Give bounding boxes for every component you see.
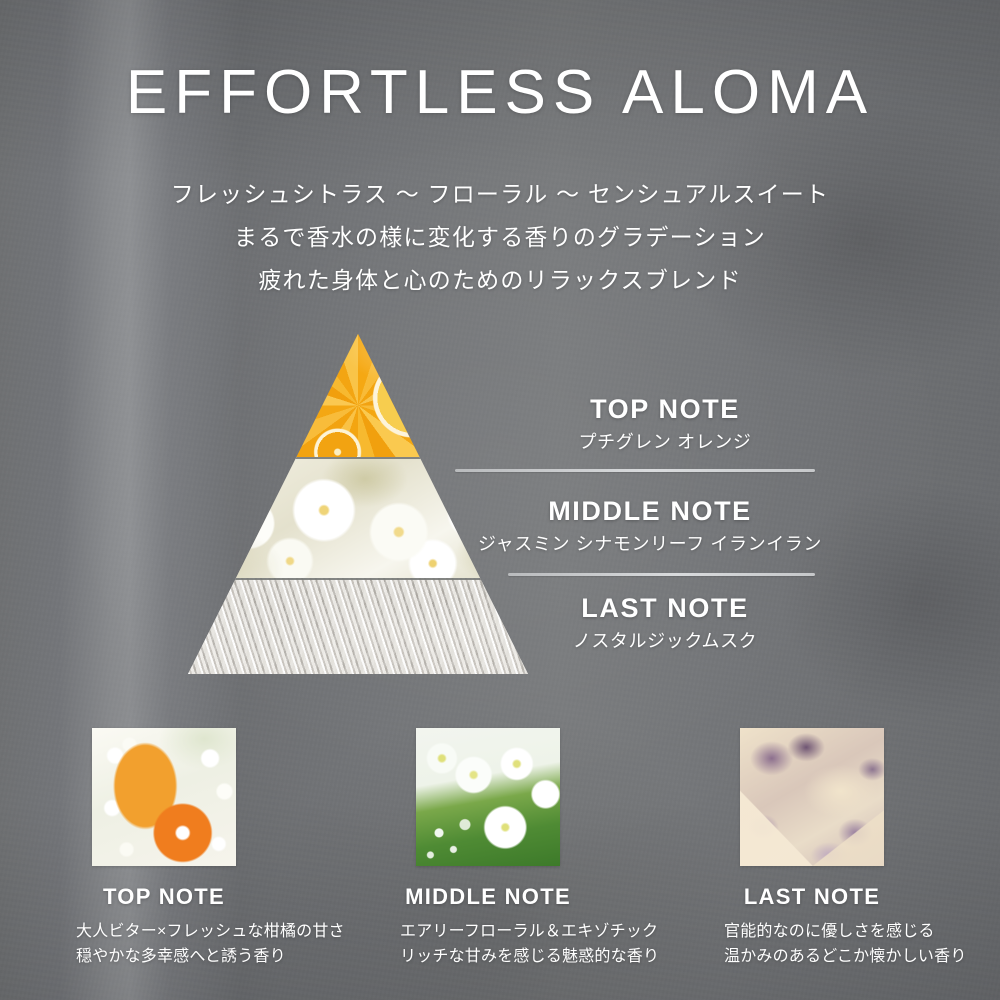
note-card-title-top: TOP NOTE bbox=[76, 884, 252, 910]
note-divider-1 bbox=[455, 469, 815, 472]
pyramid-separator-2 bbox=[188, 578, 528, 580]
subtitle-line-3: 疲れた身体と心のためのリラックスブレンド bbox=[0, 259, 1000, 302]
note-card-last: LAST NOTE 官能的なのに優しさを感じる 温かみのあるどこか懐かしい香り bbox=[724, 728, 900, 969]
note-card-description-last: 官能的なのに優しさを感じる 温かみのあるどこか懐かしい香り bbox=[724, 919, 900, 969]
note-card-description-top-line-1: 大人ビター×フレッシュな柑橘の甘さ bbox=[76, 919, 252, 944]
note-title-top: TOP NOTE bbox=[500, 393, 830, 425]
note-card-photo-top bbox=[92, 728, 236, 866]
note-card-description-middle: エアリーフローラル＆エキゾチック リッチな甘みを感じる魅惑的な香り bbox=[400, 919, 576, 969]
note-card-description-last-line-1: 官能的なのに優しさを感じる bbox=[724, 919, 900, 944]
orange-juice-jar-blossom-image bbox=[92, 728, 236, 866]
note-ingredients-top: プチグレン オレンジ bbox=[500, 431, 830, 454]
poster-root: EFFORTLESS ALOMA フレッシュシトラス 〜 フローラル 〜 センシ… bbox=[0, 0, 1000, 1000]
note-card-description-top-line-2: 穏やかな多幸感へと誘う香り bbox=[76, 944, 252, 969]
pyramid-band-last-note bbox=[188, 578, 528, 674]
note-card-title-last: LAST NOTE bbox=[724, 884, 900, 910]
note-ingredients-last: ノスタルジックムスク bbox=[500, 630, 830, 653]
subtitle-block: フレッシュシトラス 〜 フローラル 〜 センシュアルスイート まるで香水の様に変… bbox=[0, 173, 1000, 302]
note-card-photo-middle bbox=[416, 728, 560, 866]
musk-fur-texture bbox=[188, 578, 528, 674]
note-card-description-top: 大人ビター×フレッシュな柑橘の甘さ 穏やかな多幸感へと誘う香り bbox=[76, 919, 252, 969]
note-card-top: TOP NOTE 大人ビター×フレッシュな柑橘の甘さ 穏やかな多幸感へと誘う香り bbox=[76, 728, 252, 969]
citrus-texture bbox=[188, 334, 528, 457]
note-row-middle: MIDDLE NOTE ジャスミン シナモンリーフ イランイラン bbox=[470, 495, 830, 557]
note-cards: TOP NOTE 大人ビター×フレッシュな柑橘の甘さ 穏やかな多幸感へと誘う香り… bbox=[0, 728, 1000, 978]
note-row-top: TOP NOTE プチグレン オレンジ bbox=[500, 393, 830, 455]
note-card-middle: MIDDLE NOTE エアリーフローラル＆エキゾチック リッチな甘みを感じる魅… bbox=[400, 728, 576, 969]
note-title-middle: MIDDLE NOTE bbox=[470, 495, 830, 527]
pyramid-band-top-note bbox=[188, 334, 528, 457]
note-card-photo-last bbox=[740, 728, 884, 866]
jasmine-on-green-leaf-image bbox=[416, 728, 560, 866]
subtitle-line-1: フレッシュシトラス 〜 フローラル 〜 センシュアルスイート bbox=[0, 173, 1000, 216]
note-title-last: LAST NOTE bbox=[500, 592, 830, 624]
pyramid-separator-1 bbox=[188, 457, 528, 459]
vintage-photos-dried-petals-image bbox=[740, 728, 884, 866]
note-card-description-last-line-2: 温かみのあるどこか懐かしい香り bbox=[724, 944, 900, 969]
subtitle-line-2: まるで香水の様に変化する香りのグラデーション bbox=[0, 216, 1000, 259]
note-card-title-middle: MIDDLE NOTE bbox=[400, 884, 576, 910]
page-title: EFFORTLESS ALOMA bbox=[0, 62, 1000, 124]
note-card-description-middle-line-2: リッチな甘みを感じる魅惑的な香り bbox=[400, 944, 576, 969]
note-divider-2 bbox=[508, 573, 815, 576]
note-row-last: LAST NOTE ノスタルジックムスク bbox=[500, 592, 830, 654]
note-ingredients-middle: ジャスミン シナモンリーフ イランイラン bbox=[470, 533, 830, 556]
note-card-description-middle-line-1: エアリーフローラル＆エキゾチック bbox=[400, 919, 576, 944]
